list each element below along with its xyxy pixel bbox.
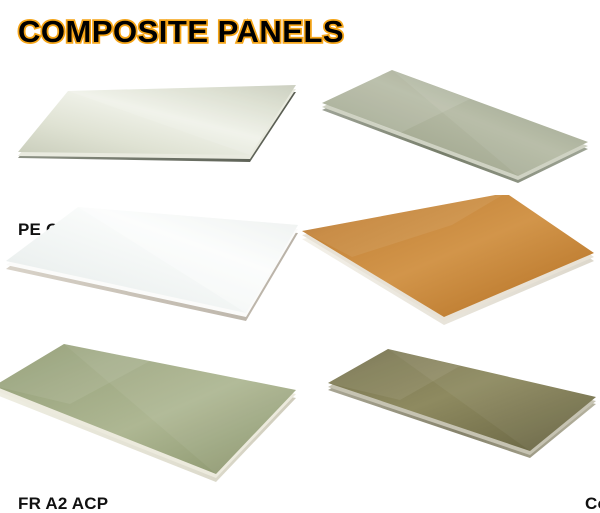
product-cell-copper-composite[interactable]: Copper Composite	[292, 195, 600, 335]
product-cell-fr-a2-acp[interactable]: FR A2 ACP	[0, 195, 300, 335]
panel-svg-zinc-composite	[0, 340, 300, 490]
panel-svg-fr-b1-acp	[300, 55, 600, 190]
product-label-fr-a2-acp: FR A2 ACP	[18, 494, 108, 513]
panel-svg-fr-a2-acp	[0, 195, 300, 335]
panel-svg-pe-core-acp	[0, 60, 300, 190]
product-cell-pe-core-acp[interactable]: PE Core ACP	[0, 60, 300, 190]
product-cell-stainless-steel-composite[interactable]: Stainless Steel Composite	[300, 340, 600, 490]
panel-image-fr-b1-acp	[300, 55, 600, 190]
product-cell-zinc-composite[interactable]: Zinc Composite	[0, 340, 300, 490]
panel-image-pe-core-acp	[0, 60, 300, 190]
panel-image-copper-composite	[292, 195, 600, 335]
panel-svg-stainless-steel-composite	[300, 340, 600, 490]
page-title: COMPOSITE PANELS	[18, 14, 344, 50]
composite-panels-poster: COMPOSITE PANELS	[0, 0, 600, 513]
product-label-copper-composite: Copper Composite	[585, 494, 600, 513]
panel-svg-copper-composite	[292, 195, 600, 335]
panel-image-stainless-steel-composite	[300, 340, 600, 490]
panel-image-fr-a2-acp	[0, 195, 300, 335]
product-cell-fr-b1-acp[interactable]: FR B1 ACP	[300, 55, 600, 190]
panel-image-zinc-composite	[0, 340, 300, 490]
